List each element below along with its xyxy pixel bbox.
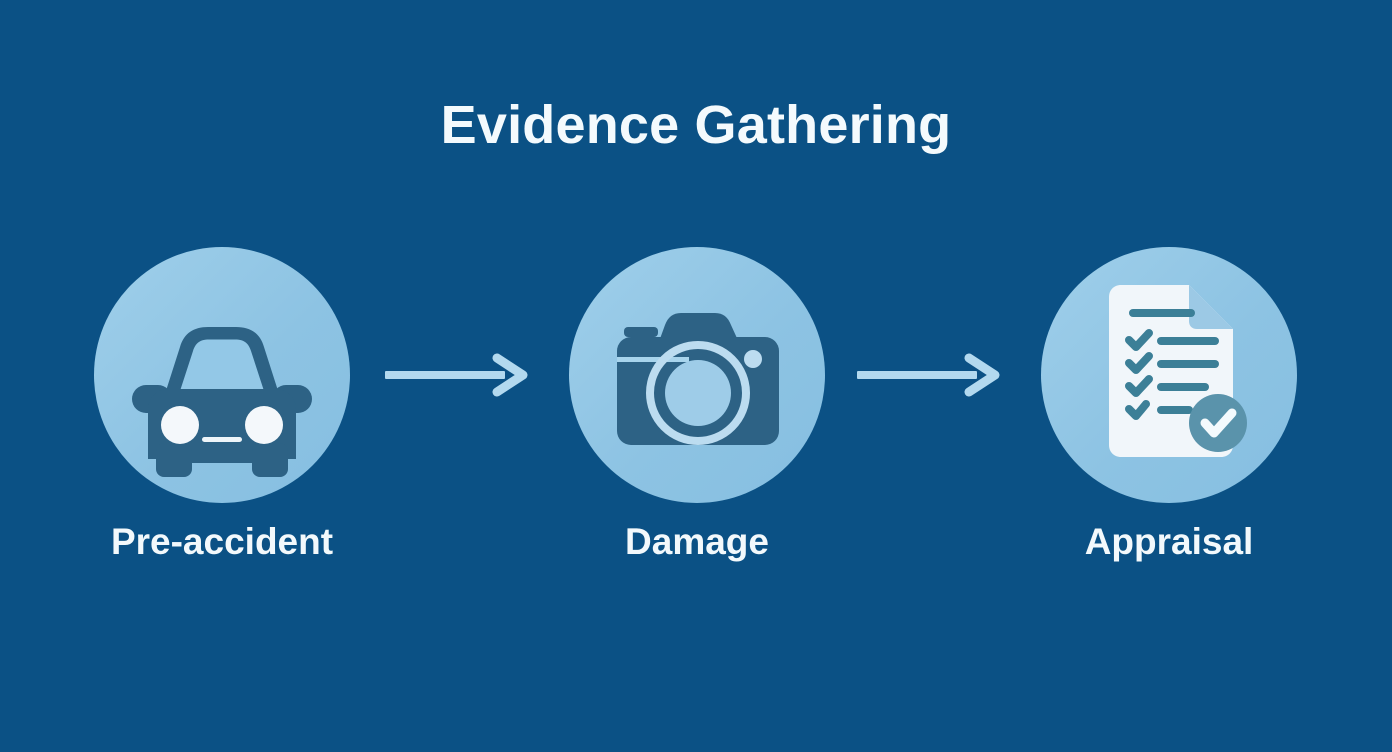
diagram-canvas: Evidence Gathering [0,0,1392,752]
flow-step-label: Damage [529,520,865,564]
flow-step-label: Appraisal [1001,520,1337,564]
car-front-icon [94,247,350,503]
step-icon-circle [94,247,350,503]
arrow-right-icon [385,352,531,398]
page-title: Evidence Gathering [0,92,1392,158]
flow-step-damage[interactable]: Damage [569,247,825,577]
arrow-right-icon [857,352,1003,398]
flow-step-pre-accident[interactable]: Pre-accident [94,247,350,577]
flow-step-appraisal[interactable]: Appraisal [1041,247,1297,577]
camera-icon [569,247,825,503]
step-icon-circle [1041,247,1297,503]
process-flow: Pre-accident [0,247,1392,577]
step-icon-circle [569,247,825,503]
checklist-document-icon [1041,247,1297,503]
flow-step-label: Pre-accident [54,520,390,564]
